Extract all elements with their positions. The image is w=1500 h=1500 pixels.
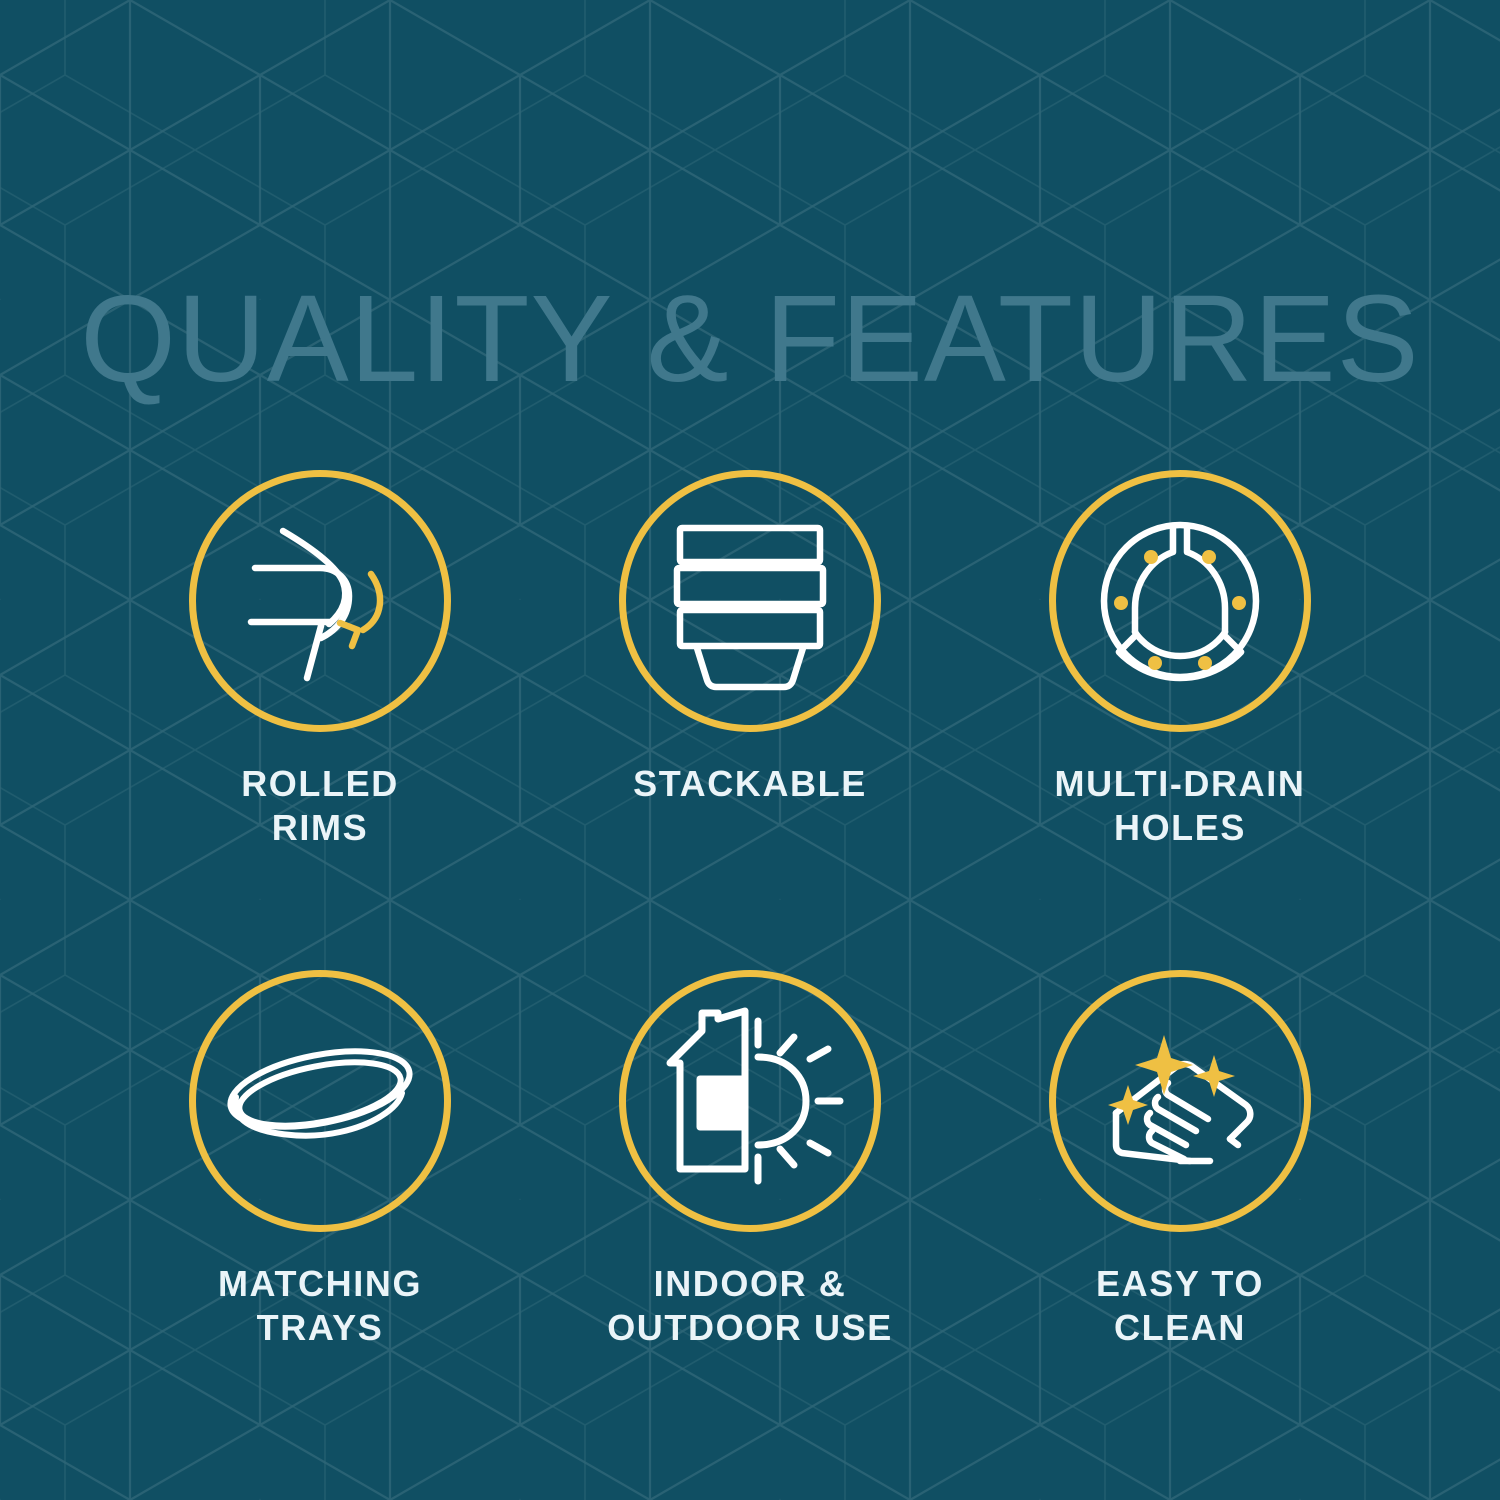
infographic-panel: QUALITY & FEATURES — [0, 0, 1500, 1500]
feature-label: MATCHING TRAYS — [218, 1262, 422, 1350]
feature-label: INDOOR & OUTDOOR USE — [607, 1262, 893, 1350]
drain-holes-icon — [1085, 506, 1275, 696]
tray-saucer-icon — [220, 1001, 420, 1201]
feature-item-stackable[interactable]: STACKABLE — [535, 470, 965, 806]
feature-row-2: MATCHING TRAYS — [0, 970, 1500, 1350]
feature-icon-circle — [189, 970, 451, 1232]
feature-label: ROLLED RIMS — [241, 762, 399, 850]
feature-item-multi-drain-holes[interactable]: MULTI-DRAIN HOLES — [965, 470, 1395, 850]
feature-item-rolled-rims[interactable]: ROLLED RIMS — [105, 470, 535, 850]
feature-item-easy-to-clean[interactable]: EASY TO CLEAN — [965, 970, 1395, 1350]
feature-icon-circle — [189, 470, 451, 732]
feature-icon-circle — [619, 470, 881, 732]
feature-label: EASY TO CLEAN — [1096, 1262, 1264, 1350]
feature-label: STACKABLE — [633, 762, 867, 806]
feature-item-matching-trays[interactable]: MATCHING TRAYS — [105, 970, 535, 1350]
feature-grid: ROLLED RIMS STACKABLE — [0, 470, 1500, 1350]
house-sun-icon — [650, 1001, 850, 1201]
feature-icon-circle — [1049, 470, 1311, 732]
feature-icon-circle — [1049, 970, 1311, 1232]
feature-icon-circle — [619, 970, 881, 1232]
feature-label: MULTI-DRAIN HOLES — [1055, 762, 1306, 850]
rolled-rim-icon — [225, 506, 415, 696]
feature-item-indoor-outdoor-use[interactable]: INDOOR & OUTDOOR USE — [535, 970, 965, 1350]
hand-wiping-sparkle-icon — [1080, 1001, 1280, 1201]
stacked-pots-icon — [655, 506, 845, 696]
feature-row-1: ROLLED RIMS STACKABLE — [0, 470, 1500, 850]
page-title: QUALITY & FEATURES — [0, 278, 1500, 401]
